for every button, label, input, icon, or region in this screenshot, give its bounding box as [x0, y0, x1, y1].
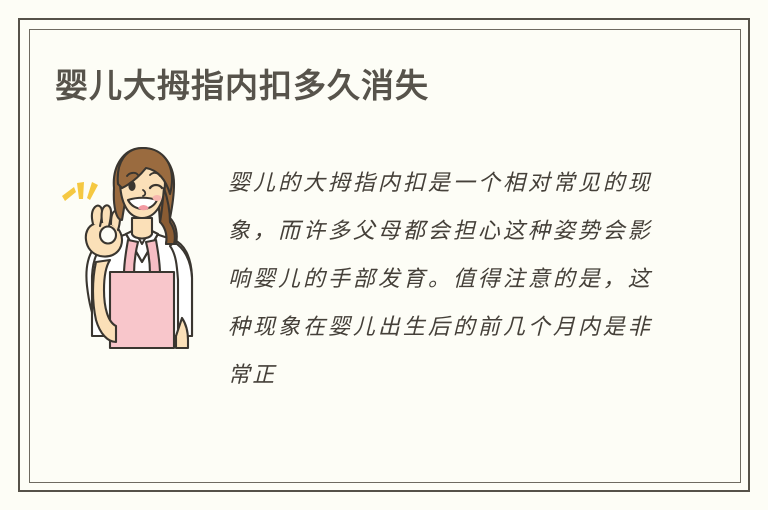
woman-ok-gesture-illustration: [58, 140, 206, 355]
eye-open: [128, 181, 135, 191]
page-title: 婴儿大拇指内扣多久消失: [55, 64, 429, 108]
article-card: 婴儿大拇指内扣多久消失: [0, 0, 768, 510]
article-body-text: 婴儿的大拇指内扣是一个相对常见的现象，而许多父母都会担心这种姿势会影响婴儿的手部…: [228, 160, 652, 400]
neck: [132, 218, 152, 239]
cheek-blush: [153, 195, 162, 201]
sparkle-marks: [62, 182, 98, 201]
apron: [110, 272, 174, 348]
